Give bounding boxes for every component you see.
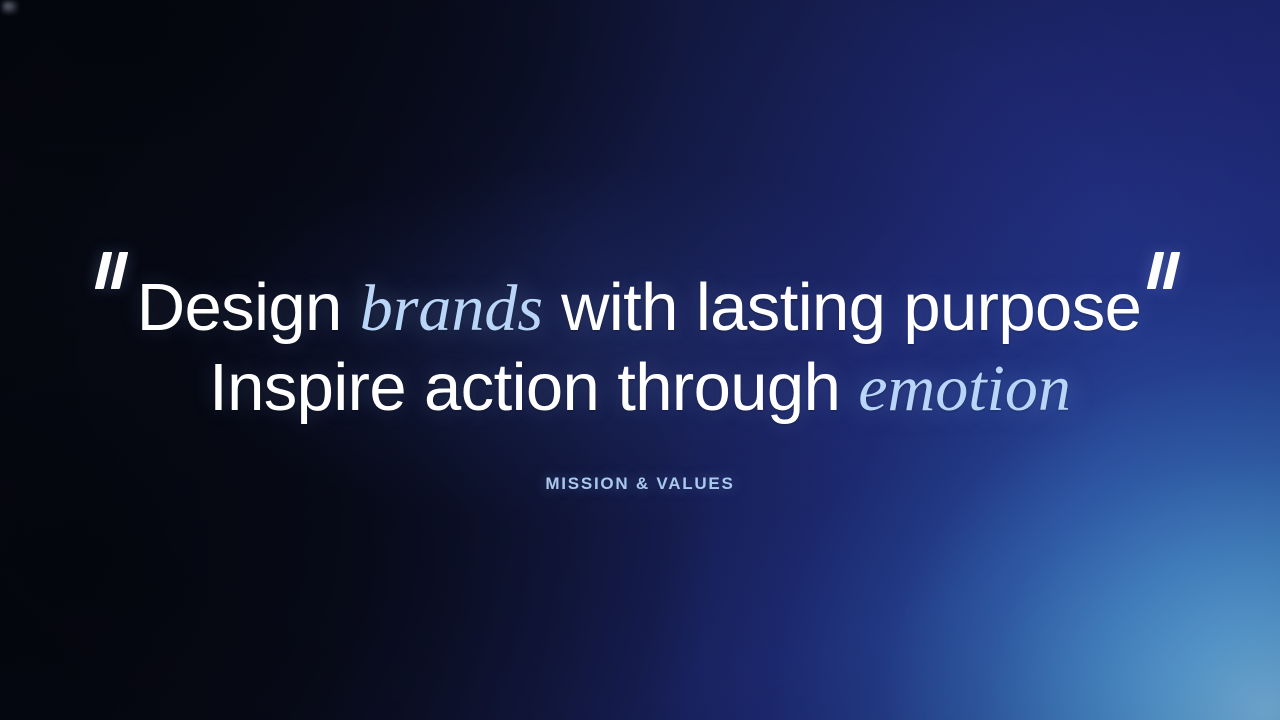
quote-block: Design brands with lasting purpose Inspi… — [0, 268, 1280, 428]
open-quote-mark-icon — [97, 252, 131, 290]
quote-line-2-accent-word: emotion — [858, 352, 1071, 425]
quote-line-1: Design brands with lasting purpose — [0, 268, 1280, 348]
quote-line-1-accent-word: brands — [360, 272, 543, 345]
quote-slide: Design brands with lasting purpose Inspi… — [0, 0, 1280, 720]
close-quote-mark-icon — [1149, 252, 1183, 290]
quote-line-1-text-after: with lasting purpose — [543, 270, 1141, 345]
quote-line-1-text-before: Design — [137, 270, 360, 345]
quote-line-2-text-before: Inspire action through — [209, 350, 858, 425]
slide-content: Design brands with lasting purpose Inspi… — [0, 0, 1280, 720]
quote-line-2: Inspire action through emotion — [0, 348, 1280, 428]
slide-subtitle: MISSION & VALUES — [0, 473, 1280, 494]
